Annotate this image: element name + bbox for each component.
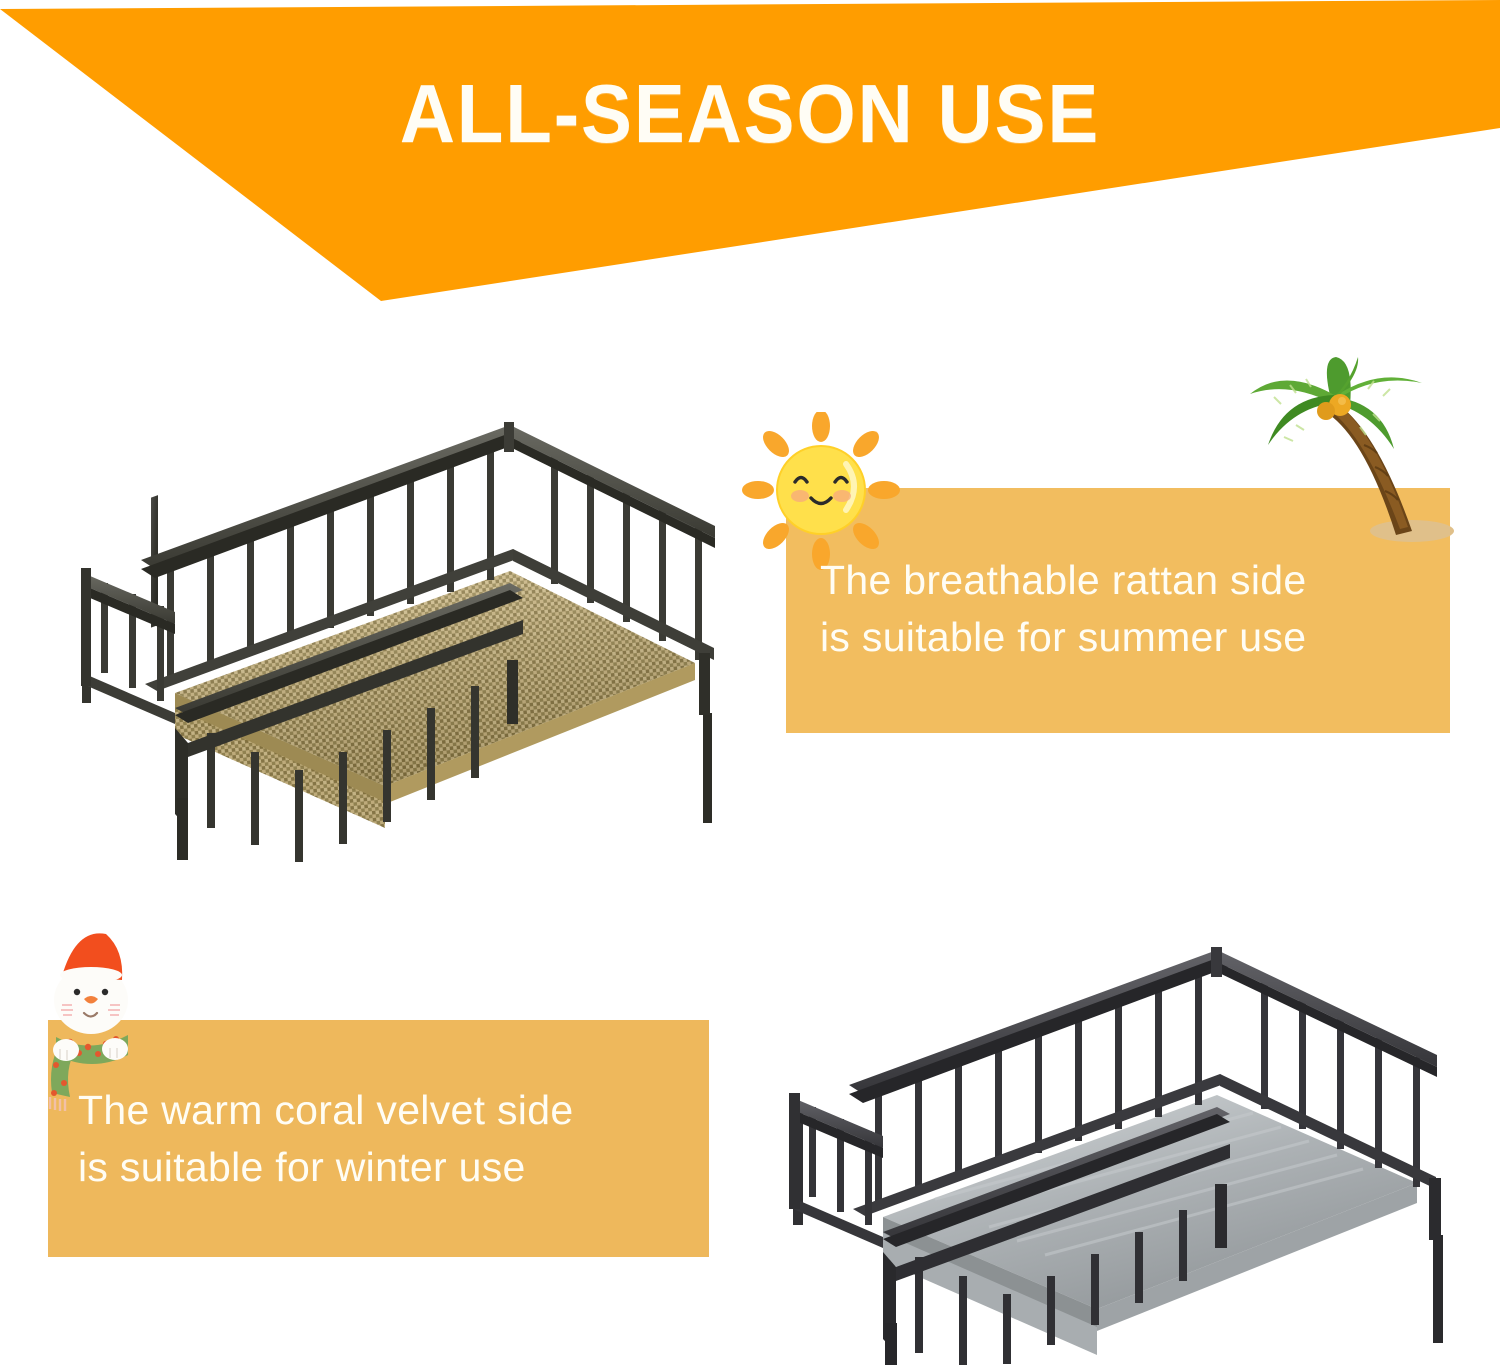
summer-callout-text: The breathable rattan side is suitable f… xyxy=(820,552,1440,665)
sun-icon xyxy=(742,412,900,572)
page-title: ALL-SEASON USE xyxy=(60,72,1440,155)
left-rail xyxy=(83,573,175,724)
palm-tree-icon xyxy=(1234,355,1466,550)
rattan-bed-image xyxy=(55,408,755,863)
winter-callout-text: The warm coral velvet side is suitable f… xyxy=(78,1082,698,1195)
left-rail-velvet xyxy=(791,1097,883,1248)
velvet-bed-image xyxy=(765,935,1490,1365)
infographic-canvas: ALL-SEASON USE xyxy=(0,0,1500,1371)
